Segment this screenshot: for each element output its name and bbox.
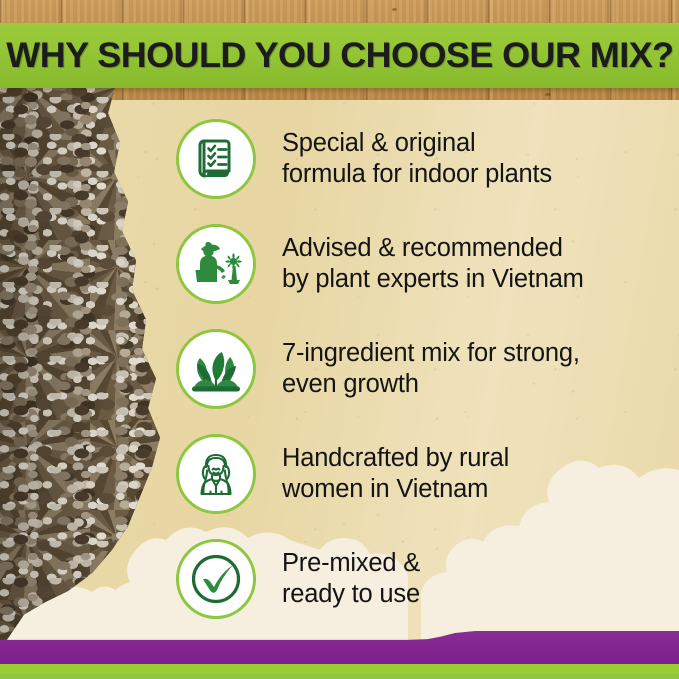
feature-label: Special & original formula for indoor pl… xyxy=(282,128,552,188)
feature-label: Advised & recommended by plant experts i… xyxy=(282,233,584,293)
page-title: WHY SHOULD YOU CHOOSE OUR MIX? xyxy=(6,36,673,76)
feature-list: Special & original formula for indoor pl… xyxy=(176,106,676,631)
feature-icon-circle xyxy=(176,329,256,409)
feature-label: 7-ingredient mix for strong, even growth xyxy=(282,338,580,398)
leaves-sprouts-icon xyxy=(189,345,243,393)
feature-item-ingredients: 7-ingredient mix for strong, even growth xyxy=(176,316,676,421)
feature-icon-circle xyxy=(176,434,256,514)
feature-icon-circle xyxy=(176,224,256,304)
wood-knot-decor xyxy=(545,93,551,96)
feature-item-premixed: Pre-mixed & ready to use xyxy=(176,526,676,631)
feature-item-experts: Advised & recommended by plant experts i… xyxy=(176,211,676,316)
feature-icon-circle xyxy=(176,119,256,199)
wood-knot-decor xyxy=(392,8,397,11)
infographic-poster: WHY SHOULD YOU CHOOSE OUR MIX? xyxy=(0,0,679,679)
feature-item-handcrafted: Handcrafted by rural women in Vietnam xyxy=(176,421,676,526)
feature-icon-circle xyxy=(176,539,256,619)
rural-woman-portrait-icon xyxy=(190,448,242,500)
checkmark-circle-icon xyxy=(188,551,244,607)
feature-label: Handcrafted by rural women in Vietnam xyxy=(282,443,509,503)
bottom-green-band-inner xyxy=(0,674,679,679)
checklist-scroll-icon xyxy=(191,134,241,184)
feature-item-formula: Special & original formula for indoor pl… xyxy=(176,106,676,211)
bottom-green-band xyxy=(0,664,679,679)
header-banner: WHY SHOULD YOU CHOOSE OUR MIX? xyxy=(0,23,679,88)
feature-label: Pre-mixed & ready to use xyxy=(282,548,420,608)
gardener-watering-plant-icon xyxy=(190,238,242,290)
